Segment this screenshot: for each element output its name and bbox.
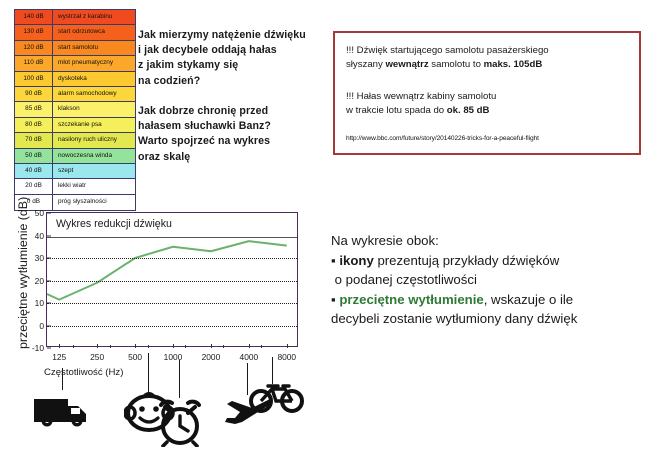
- table-row: 80 dBszczekanie psa: [15, 118, 135, 133]
- emphasis-attenuation: przeciętne wytłumienie: [339, 292, 483, 307]
- table-row: 100 dBdyskoteka: [15, 72, 135, 87]
- emphasis-max-105db: maks. 105dB: [484, 59, 543, 70]
- chart-icon-callouts: [0, 205, 330, 447]
- db-description-cell: lekki wiatr: [53, 179, 135, 193]
- db-description-cell: szczekanie psa: [53, 118, 135, 132]
- table-row: 140 dBwystrzał z karabinu: [15, 10, 135, 25]
- db-level-cell: 80 dB: [15, 118, 53, 132]
- db-description-cell: klakson: [53, 102, 135, 116]
- emphasis-inside: wewnątrz: [385, 59, 428, 70]
- callout-note-2: !!! Hałas wewnątrz kabiny samolotu w tra…: [346, 90, 496, 118]
- db-level-cell: 140 dB: [15, 10, 53, 24]
- intro-paragraph-1: Jak mierzymy natężenie dźwięku i jak dec…: [138, 28, 306, 89]
- table-row: 40 dBszept: [15, 164, 135, 179]
- leader-line-baby: [148, 353, 149, 395]
- db-description-cell: start odrzutowca: [53, 25, 135, 39]
- db-description-cell: nowoczesna winda: [53, 149, 135, 163]
- db-level-cell: 50 dB: [15, 149, 53, 163]
- db-description-cell: nasilony ruch uliczny: [53, 133, 135, 147]
- emphasis-about-85db: ok. 85 dB: [447, 105, 490, 116]
- description-heading: Na wykresie obok:: [331, 231, 661, 251]
- db-level-cell: 85 dB: [15, 102, 53, 116]
- db-description-cell: dyskoteka: [53, 72, 135, 86]
- table-row: 20 dBlekki wiatr: [15, 179, 135, 194]
- db-level-cell: 20 dB: [15, 179, 53, 193]
- leader-line-bicycle: [272, 357, 273, 384]
- chart-legend-description: Na wykresie obok: ▪ ikony prezentują prz…: [331, 231, 661, 329]
- aircraft-noise-callout-box: !!! Dźwięk startującego samolotu pasażer…: [333, 31, 641, 155]
- db-description-cell: alarm samochodowy: [53, 87, 135, 101]
- bicycle-icon: [248, 381, 306, 420]
- db-level-cell: 130 dB: [15, 25, 53, 39]
- leader-line-truck: [62, 368, 63, 390]
- leader-line-clock: [179, 360, 180, 398]
- source-url-link[interactable]: http://www.bbc.com/future/story/20140226…: [346, 135, 539, 142]
- emphasis-ikony: ikony: [339, 253, 373, 268]
- intro-paragraph-2: Jak dobrze chronię przed hałasem słuchaw…: [138, 104, 271, 165]
- table-row: 110 dBmłot pneumatyczny: [15, 56, 135, 71]
- db-level-cell: 70 dB: [15, 133, 53, 147]
- db-level-cell: 90 dB: [15, 87, 53, 101]
- truck-icon: [31, 395, 93, 436]
- db-level-cell: 40 dB: [15, 164, 53, 178]
- db-level-cell: 110 dB: [15, 56, 53, 70]
- db-description-cell: młot pneumatyczny: [53, 56, 135, 70]
- description-bullet-1: ▪ ikony prezentują przykłady dźwięków: [331, 251, 661, 271]
- description-bullet-2: ▪ przeciętne wytłumienie, wskazuje o ile: [331, 290, 661, 310]
- table-row: 70 dBnasilony ruch uliczny: [15, 133, 135, 148]
- callout-note-1: !!! Dźwięk startującego samolotu pasażer…: [346, 44, 549, 72]
- description-bullet-2-cont: decybeli zostanie wytłumiony dany dźwięk: [331, 309, 661, 329]
- table-row: 50 dBnowoczesna winda: [15, 149, 135, 164]
- table-row: 120 dBstart samolotu: [15, 41, 135, 56]
- alarm-clock-icon: [155, 399, 205, 452]
- table-row: 130 dBstart odrzutowca: [15, 25, 135, 40]
- db-level-cell: 120 dB: [15, 41, 53, 55]
- description-bullet-1-cont: o podanej częstotliwości: [331, 270, 661, 290]
- table-row: 85 dBklakson: [15, 102, 135, 117]
- table-row: 90 dBalarm samochodowy: [15, 87, 135, 102]
- db-description-cell: szept: [53, 164, 135, 178]
- db-description-cell: start samolotu: [53, 41, 135, 55]
- db-description-cell: wystrzał z karabinu: [53, 10, 135, 24]
- decibel-scale-table: 140 dBwystrzał z karabinu130 dBstart odr…: [14, 9, 136, 211]
- db-level-cell: 100 dB: [15, 72, 53, 86]
